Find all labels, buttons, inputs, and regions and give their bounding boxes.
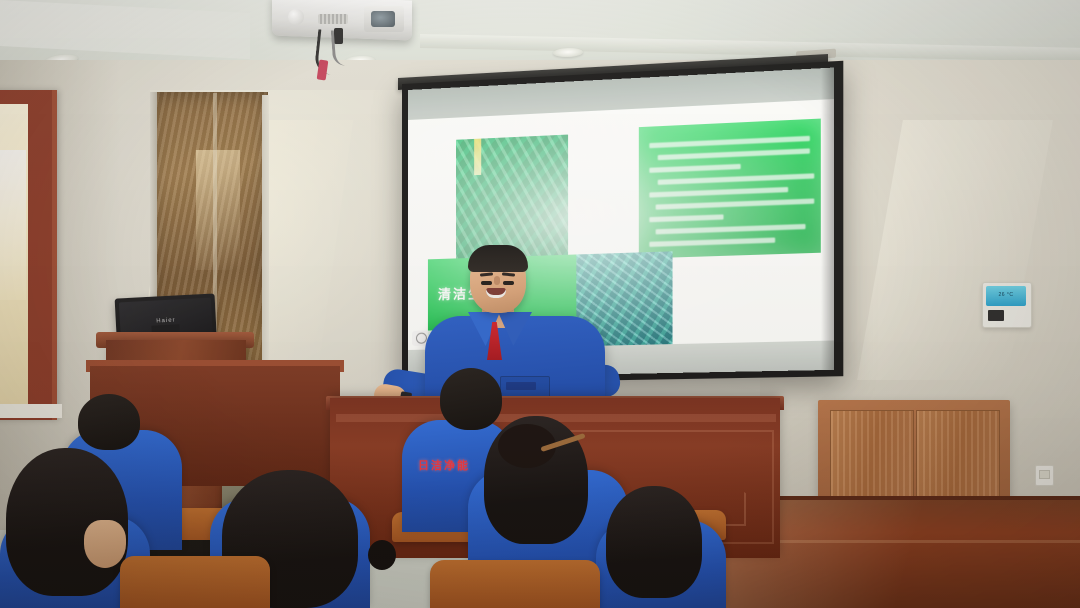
auditorium-chair[interactable] xyxy=(120,556,270,608)
panel-button[interactable] xyxy=(988,310,1004,321)
column-highlight xyxy=(196,150,240,270)
attendee-far-right-hair xyxy=(606,486,702,598)
attendee-center-uniform-text: 日洁净能 xyxy=(418,457,470,473)
presenter-nose xyxy=(494,276,500,285)
window-sill xyxy=(0,404,62,418)
panel-temperature-text: 26 °C xyxy=(988,292,1024,298)
light-switch-rocker[interactable] xyxy=(1039,470,1050,479)
presenter-hair xyxy=(468,245,528,272)
conference-room-photo: 清洁生产 26 °C Haier xyxy=(0,0,1080,608)
slide-text-panel xyxy=(639,119,821,259)
eye-right xyxy=(503,281,514,285)
uniform-badge xyxy=(506,382,536,390)
eyebrow-left xyxy=(480,272,493,276)
slide-photo-sugarcane xyxy=(456,135,568,261)
projector-vent xyxy=(318,14,348,24)
attendee-left-back-head xyxy=(78,394,140,450)
projector-lens xyxy=(371,11,395,27)
eye-left xyxy=(481,281,492,285)
hair-tie xyxy=(368,540,396,570)
auditorium-chair[interactable] xyxy=(430,560,600,608)
window-glare xyxy=(0,150,26,300)
attendee-center-head xyxy=(440,368,502,430)
eyebrow-right xyxy=(502,272,515,276)
screen-edge-shadow xyxy=(821,68,834,371)
presenter-mouth xyxy=(486,288,506,298)
projector-focus-knob xyxy=(288,9,304,25)
attendee-left-front-face xyxy=(84,520,126,568)
